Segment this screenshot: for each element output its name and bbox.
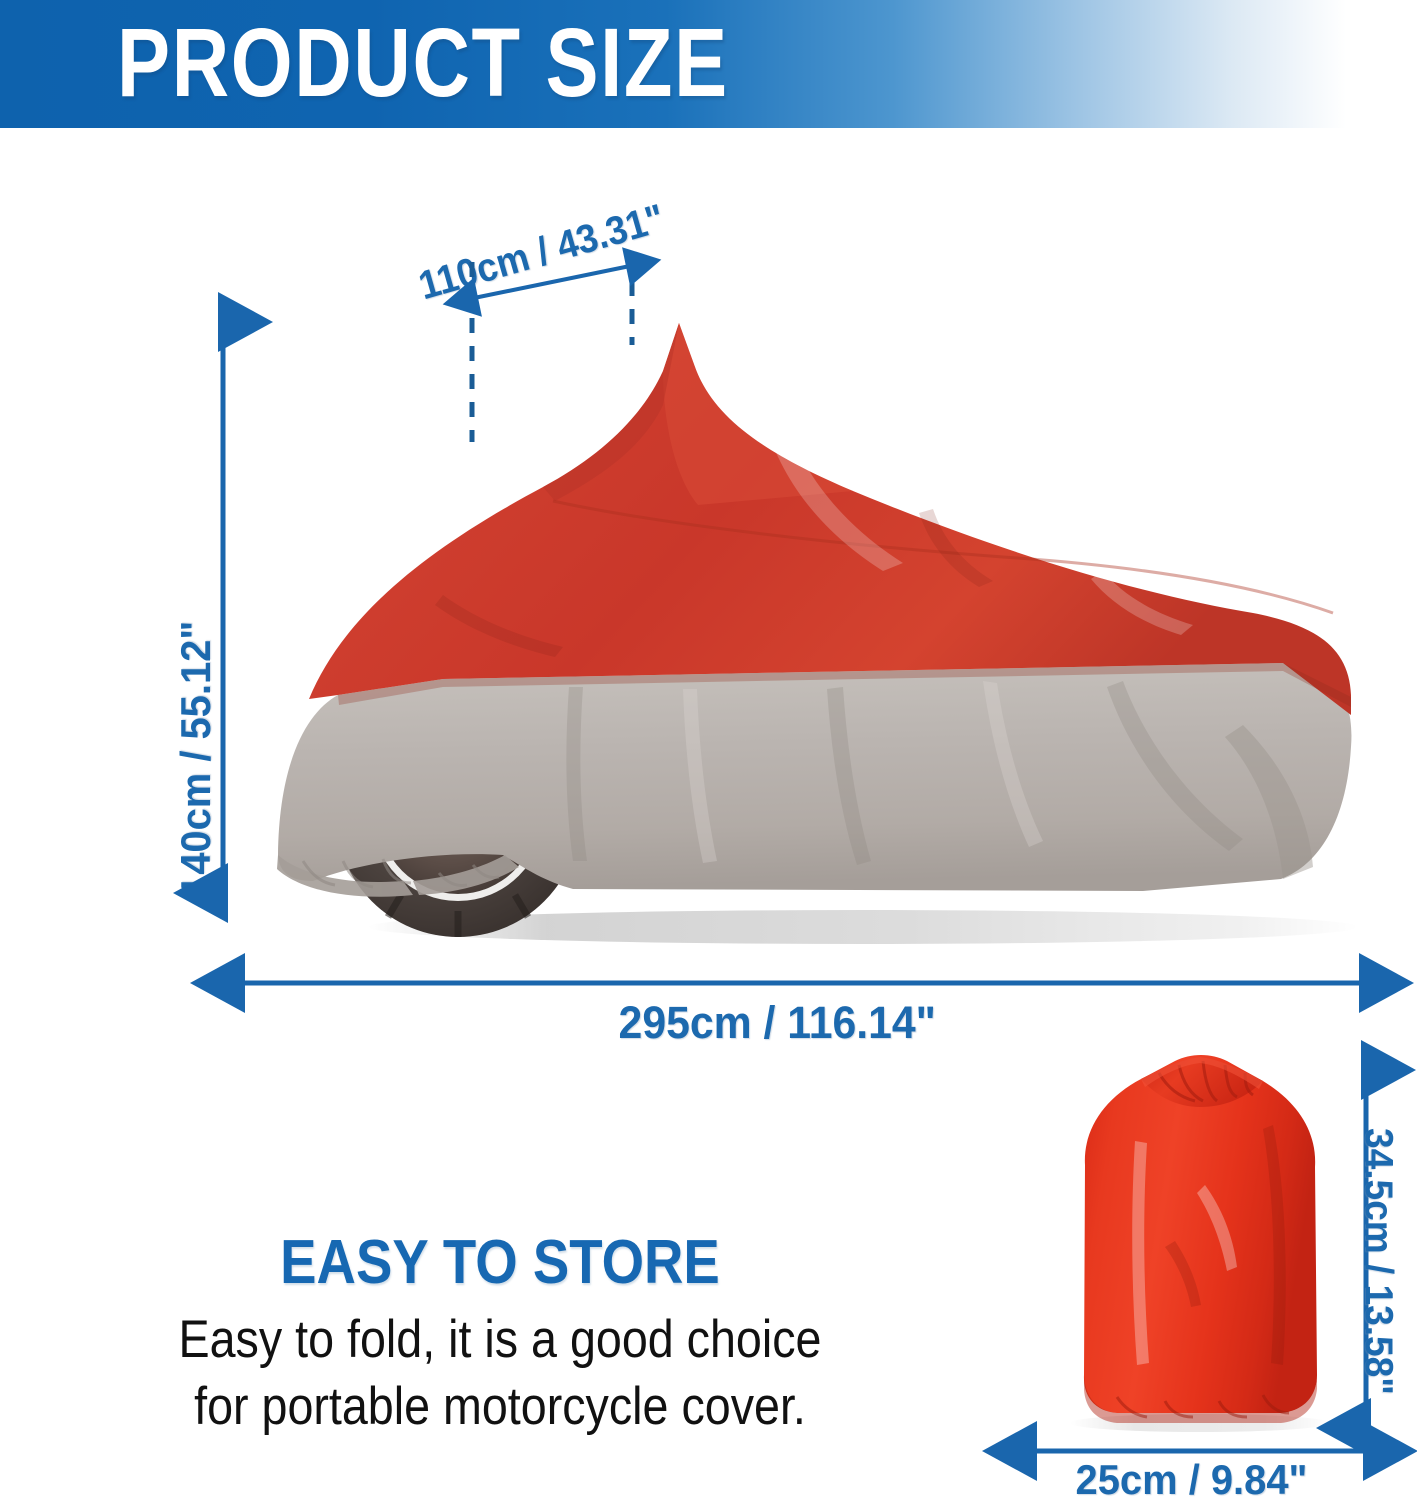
easy-to-store-body-line-2: for portable motorcycle cover.: [60, 1377, 940, 1437]
easy-to-store-body-line-1: Easy to fold, it is a good choice: [60, 1310, 940, 1370]
header-banner: PRODUCT SIZE: [0, 0, 1417, 128]
bag-height-label: 34.5cm / 13.58": [1356, 1128, 1400, 1395]
storage-bag-illustration: [1055, 1045, 1345, 1435]
cover-height-arrow-icon: [208, 310, 238, 905]
product-size-infographic: PRODUCT SIZE 110cm / 43.31" 140cm / 55.1…: [0, 0, 1417, 1500]
easy-to-store-heading: EASY TO STORE: [60, 1228, 940, 1298]
motorcycle-cover-illustration: [243, 295, 1363, 960]
page-title: PRODUCT SIZE: [117, 9, 729, 117]
cover-length-arrow-icon: [228, 968, 1378, 998]
cover-length-label: 295cm / 116.14": [250, 997, 1305, 1049]
bag-width-label: 25cm / 9.84": [1030, 1456, 1353, 1500]
